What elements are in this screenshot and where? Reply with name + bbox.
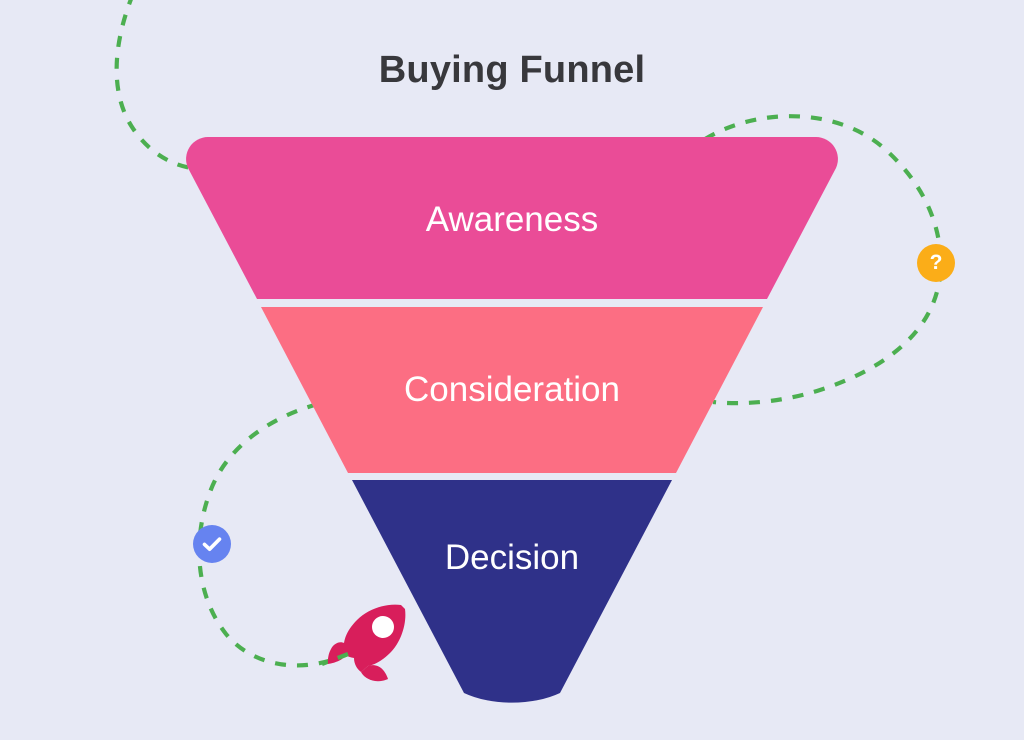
check-badge[interactable] [193, 525, 231, 563]
help-badge[interactable]: ? [917, 244, 955, 282]
question-mark-icon: ? [930, 252, 943, 273]
check-icon [200, 532, 224, 556]
funnel-segment-awareness[interactable] [186, 137, 838, 299]
funnel-segment-decision[interactable] [352, 480, 672, 703]
rocket-icon [328, 605, 405, 682]
funnel-segment-consideration[interactable] [261, 307, 763, 473]
page-title: Buying Funnel [0, 44, 1024, 96]
funnel-graphics [0, 0, 1024, 740]
funnel-chart-canvas: Buying Funnel Awareness Consideration De… [0, 0, 1024, 740]
